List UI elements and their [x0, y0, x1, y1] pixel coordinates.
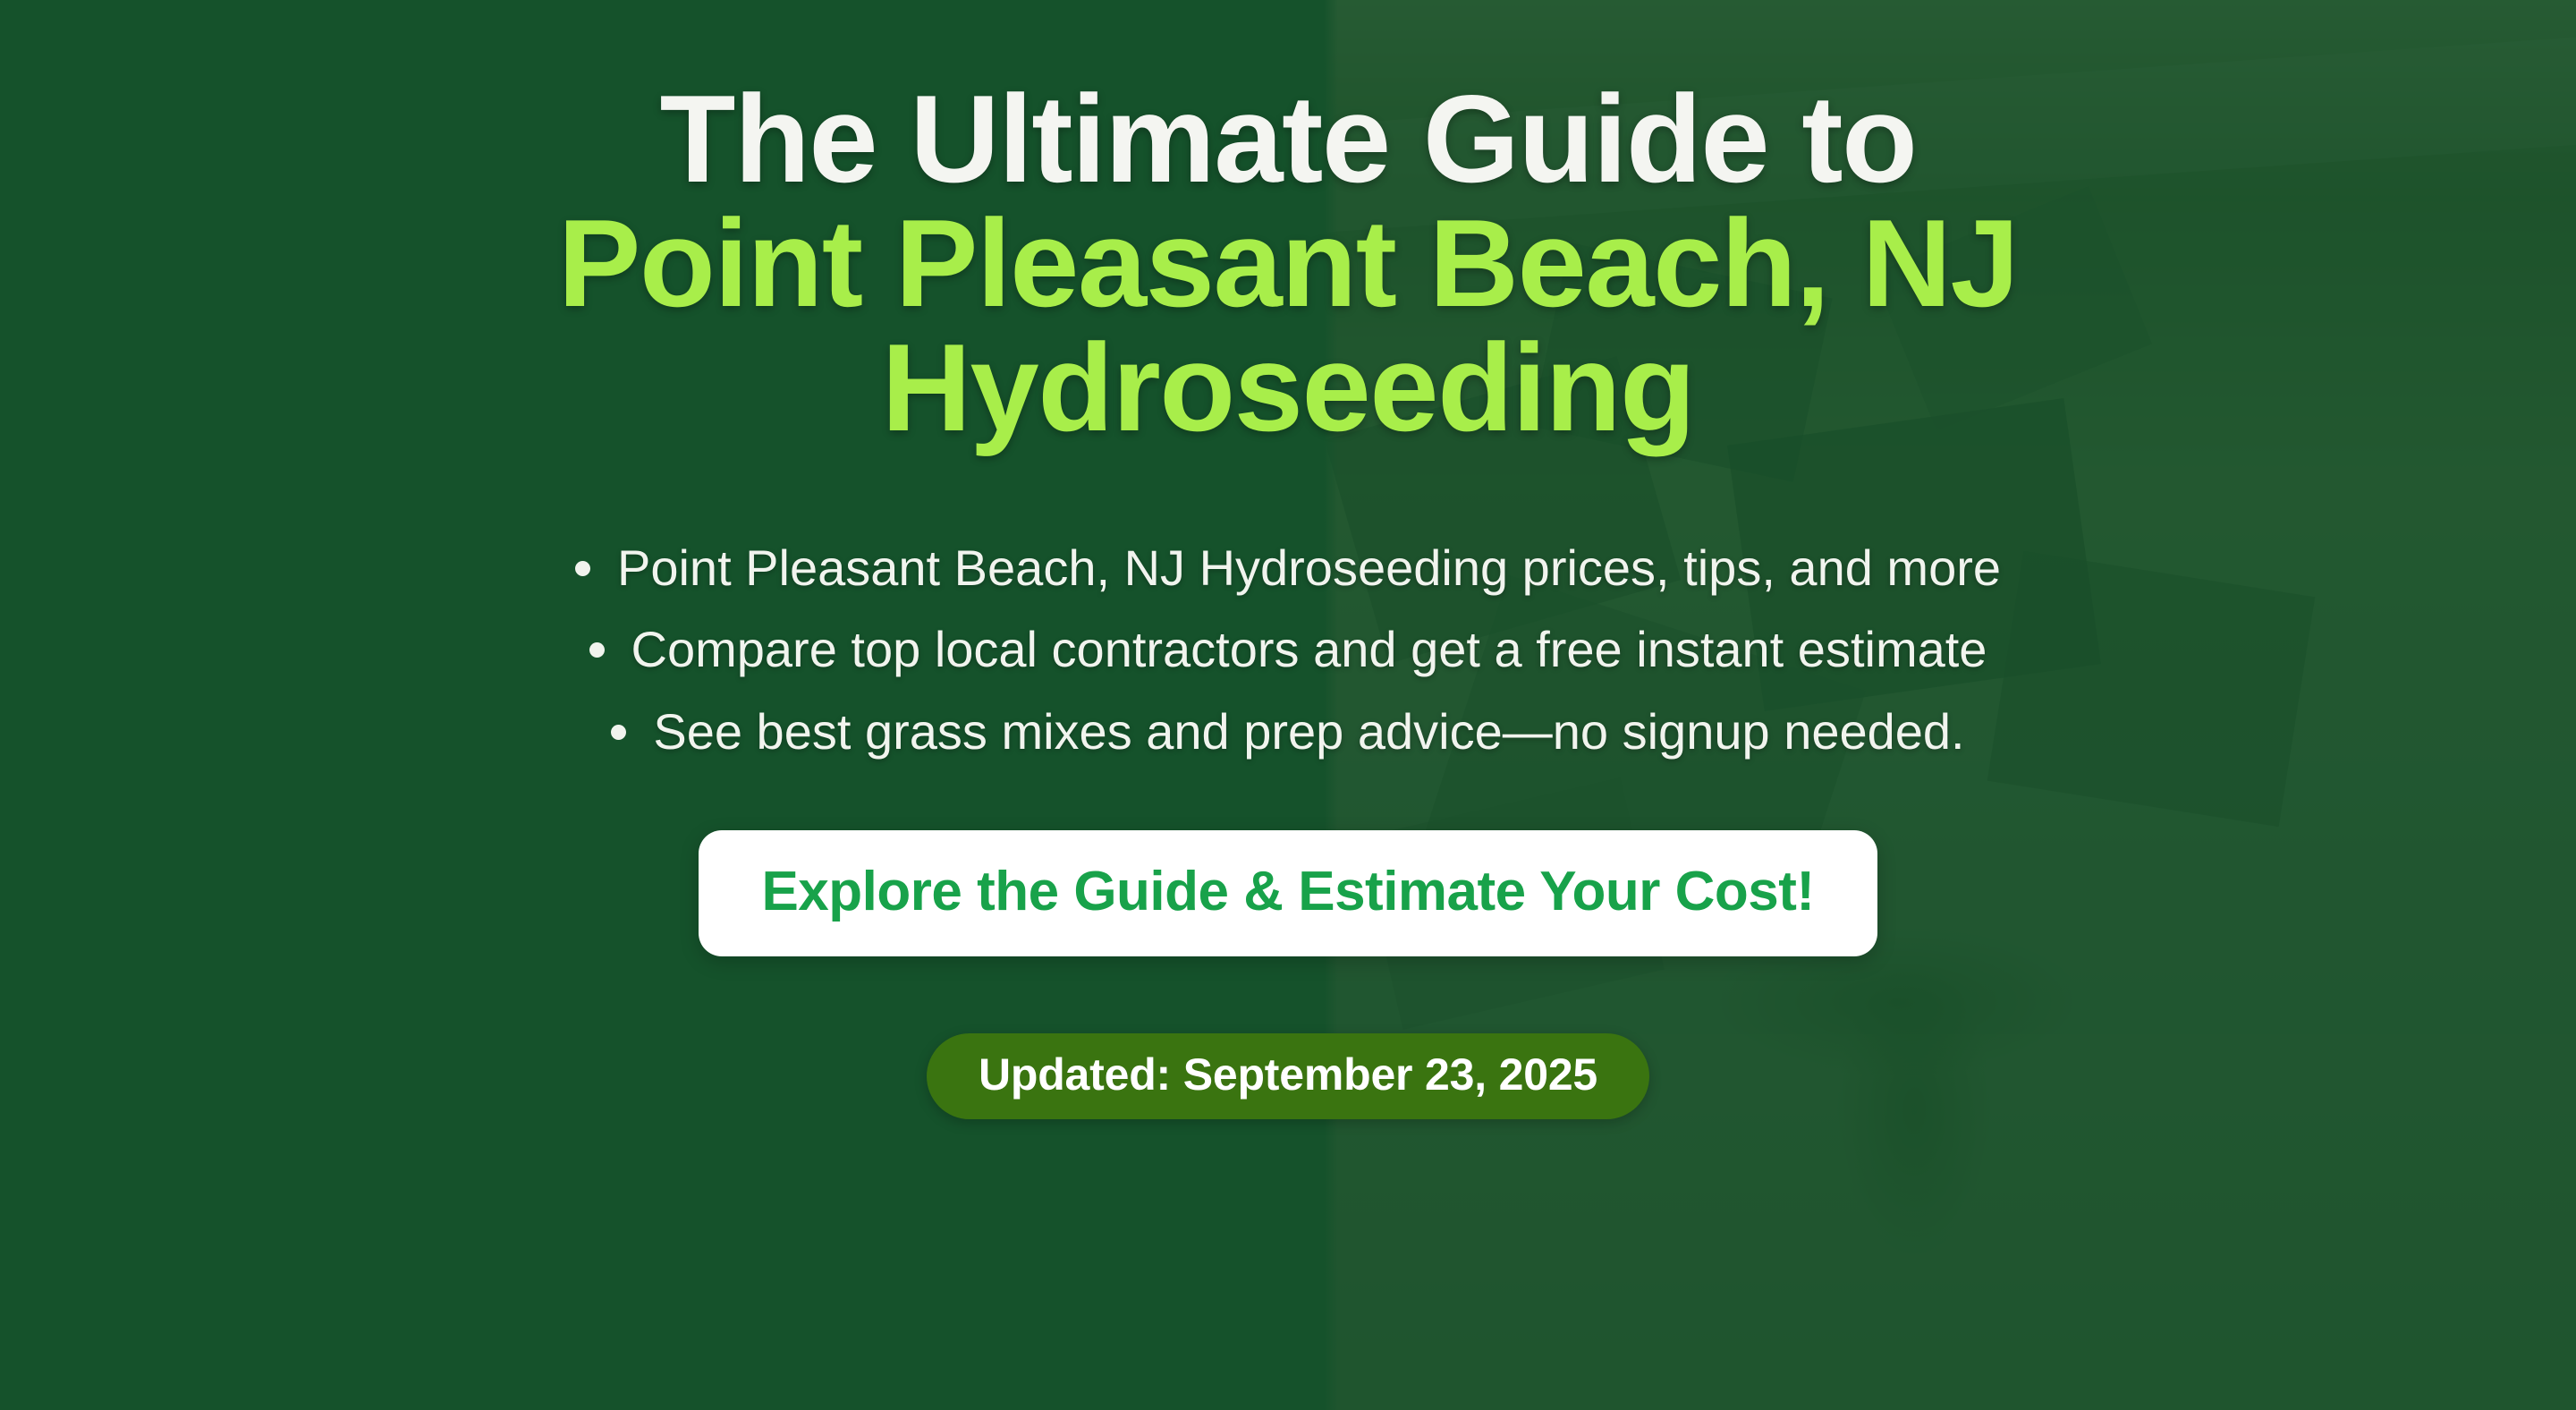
headline-line-accent: Point Pleasant Beach, NJ Hydroseeding — [143, 201, 2433, 450]
bullet-dot-icon — [589, 642, 605, 658]
list-item-label: See best grass mixes and prep advice—no … — [653, 701, 1964, 762]
list-item-label: Compare top local contractors and get a … — [631, 619, 1987, 680]
page-title: The Ultimate Guide to Point Pleasant Bea… — [143, 77, 2433, 450]
banner-content: The Ultimate Guide to Point Pleasant Bea… — [0, 0, 2576, 1410]
explore-guide-button[interactable]: Explore the Guide & Estimate Your Cost! — [699, 830, 1877, 956]
list-item: Point Pleasant Beach, NJ Hydroseeding pr… — [286, 538, 2290, 599]
hero-banner: The Ultimate Guide to Point Pleasant Bea… — [0, 0, 2576, 1410]
list-item-label: Point Pleasant Beach, NJ Hydroseeding pr… — [617, 538, 2001, 599]
updated-date-badge: Updated: September 23, 2025 — [927, 1033, 1649, 1119]
bullet-dot-icon — [575, 561, 590, 576]
bullet-dot-icon — [611, 725, 626, 740]
cta-container: Explore the Guide & Estimate Your Cost! — [0, 830, 2576, 956]
headline-line-primary: The Ultimate Guide to — [143, 77, 2433, 201]
list-item: Compare top local contractors and get a … — [286, 619, 2290, 680]
benefits-list: Point Pleasant Beach, NJ Hydroseeding pr… — [286, 538, 2290, 783]
updated-container: Updated: September 23, 2025 — [0, 1033, 2576, 1119]
list-item: See best grass mixes and prep advice—no … — [286, 701, 2290, 762]
